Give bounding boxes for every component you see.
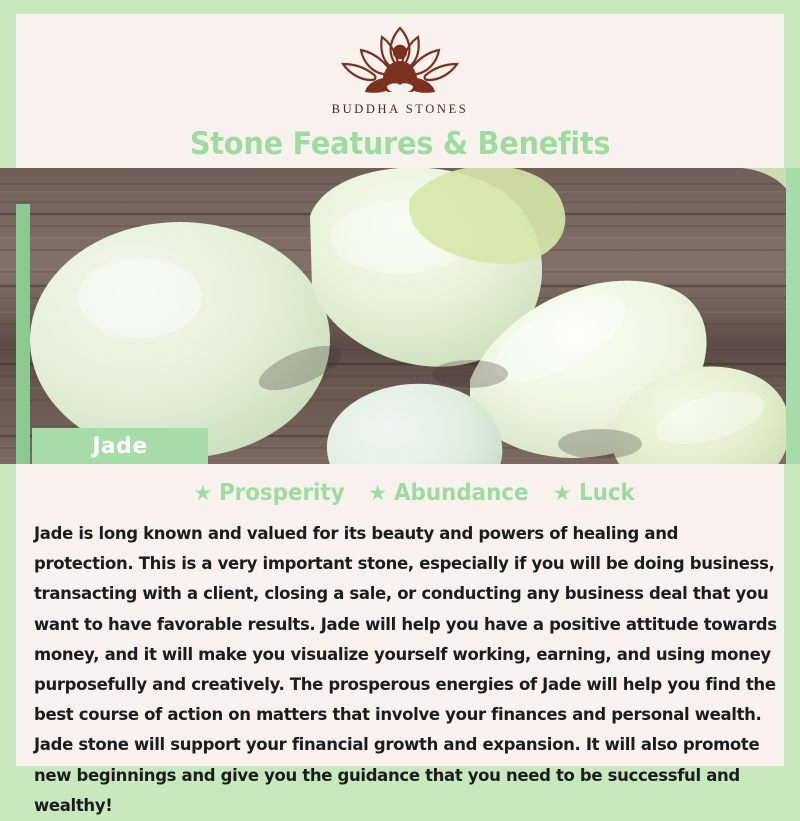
- benefit-item: ★ Abundance: [368, 480, 538, 506]
- benefit-item: ★ Luck: [553, 480, 639, 506]
- benefit-label: Luck: [579, 480, 635, 506]
- benefits-row: ★ Prosperity ★ Abundance ★ Luck: [32, 480, 800, 506]
- photo-right-accent: [786, 168, 800, 464]
- stone-name-label: Jade: [92, 434, 147, 459]
- frame-accent-top: [0, 0, 800, 14]
- star-icon: ★: [368, 483, 387, 504]
- brand-name: BUDDHA STONES: [332, 102, 469, 117]
- brand-logo: BUDDHA STONES: [325, 20, 475, 117]
- card-header: BUDDHA STONES Stone Features & Benefits: [16, 14, 784, 168]
- star-icon: ★: [553, 483, 572, 504]
- benefit-label: Prosperity: [219, 480, 345, 506]
- stone-photo: [0, 168, 800, 464]
- photo-left-accent: [16, 204, 30, 464]
- page-title: Stone Features & Benefits: [190, 126, 610, 162]
- benefit-item: ★ Prosperity: [193, 480, 354, 506]
- stone-name-banner: Jade: [32, 428, 208, 464]
- benefit-label: Abundance: [394, 480, 528, 506]
- lotus-meditation-icon: [325, 20, 475, 98]
- info-card: BUDDHA STONES Stone Features & Benefits: [16, 14, 784, 766]
- stone-description: Jade is long known and valued for its be…: [34, 519, 777, 821]
- star-icon: ★: [193, 483, 212, 504]
